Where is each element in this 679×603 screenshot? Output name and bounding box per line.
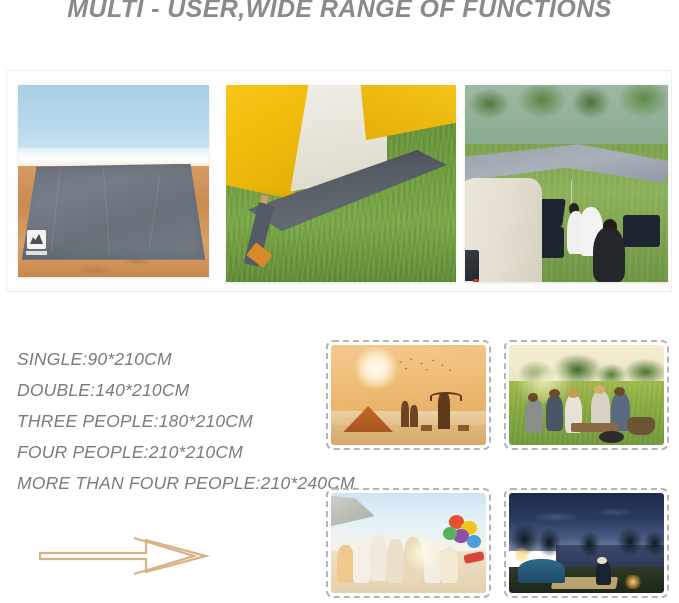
thumb-image — [331, 345, 486, 445]
person-figure — [441, 547, 458, 583]
person-silhouette — [410, 405, 418, 427]
person-figure — [596, 561, 612, 585]
spec-line-single: SINGLE:90*210CM — [17, 344, 347, 375]
person-silhouette — [401, 401, 409, 427]
photo-beach-tarp — [18, 85, 209, 277]
person-head — [594, 385, 605, 394]
gray-tarp — [22, 164, 205, 260]
thumb-night-lake-camp — [504, 488, 669, 598]
tree-line — [465, 85, 668, 152]
page-title: MULTI - USER,WIDE RANGE OF FUNCTIONS — [0, 0, 679, 24]
arrow-right-icon — [38, 532, 213, 580]
thumb-beach-party — [326, 488, 491, 598]
person-silhouette — [438, 393, 450, 429]
birds-flock — [393, 357, 458, 379]
thumb-image — [509, 493, 664, 593]
picnic-basket — [627, 417, 655, 435]
lantern-light — [515, 547, 529, 563]
person-figure — [387, 539, 404, 583]
brand-logo-badge — [27, 230, 46, 249]
balloon — [443, 527, 457, 540]
camping-chair — [623, 215, 660, 247]
spec-line-double: DOUBLE:140*210CM — [17, 375, 347, 406]
photo-car-awning — [465, 85, 668, 282]
white-car — [465, 178, 542, 282]
tarp-crease — [148, 174, 160, 250]
spec-line-more: MORE THAN FOUR PEOPLE:210*240CM — [17, 468, 347, 499]
tarp-crease — [103, 170, 110, 254]
grill — [599, 431, 624, 443]
brand-logo-text — [26, 251, 47, 255]
sun-flare — [402, 537, 442, 571]
tarp-crease — [51, 172, 60, 252]
person-figure — [546, 395, 563, 431]
product-feature-page: MULTI - USER,WIDE RANGE OF FUNCTIONS — [0, 0, 679, 603]
size-spec-list: SINGLE:90*210CM DOUBLE:140*210CM THREE P… — [17, 344, 347, 499]
camp-stool — [421, 425, 432, 431]
person-head — [568, 389, 579, 398]
person-head — [597, 557, 606, 564]
thumb-image — [331, 493, 486, 593]
person-figure — [353, 541, 370, 583]
photo-tent-footprint — [226, 85, 456, 282]
thumb-image — [509, 345, 664, 445]
adult-figure — [593, 227, 625, 282]
person-figure — [525, 399, 544, 433]
pointer-arrow — [38, 532, 213, 580]
campfire-glow — [624, 575, 643, 589]
car-rear-window — [465, 250, 479, 281]
thumb-sunset-camp — [326, 340, 491, 450]
thumb-meadow-picnic — [504, 340, 669, 450]
spec-line-four: FOUR PEOPLE:210*210CM — [17, 437, 347, 468]
camp-stool — [458, 425, 469, 431]
person-figure — [370, 535, 387, 581]
spec-line-three: THREE PEOPLE:180*210CM — [17, 406, 347, 437]
tree-silhouettes — [509, 519, 664, 561]
car-tail-light — [473, 279, 479, 282]
person-figure — [337, 545, 354, 583]
mountain-logo-icon — [30, 233, 43, 244]
